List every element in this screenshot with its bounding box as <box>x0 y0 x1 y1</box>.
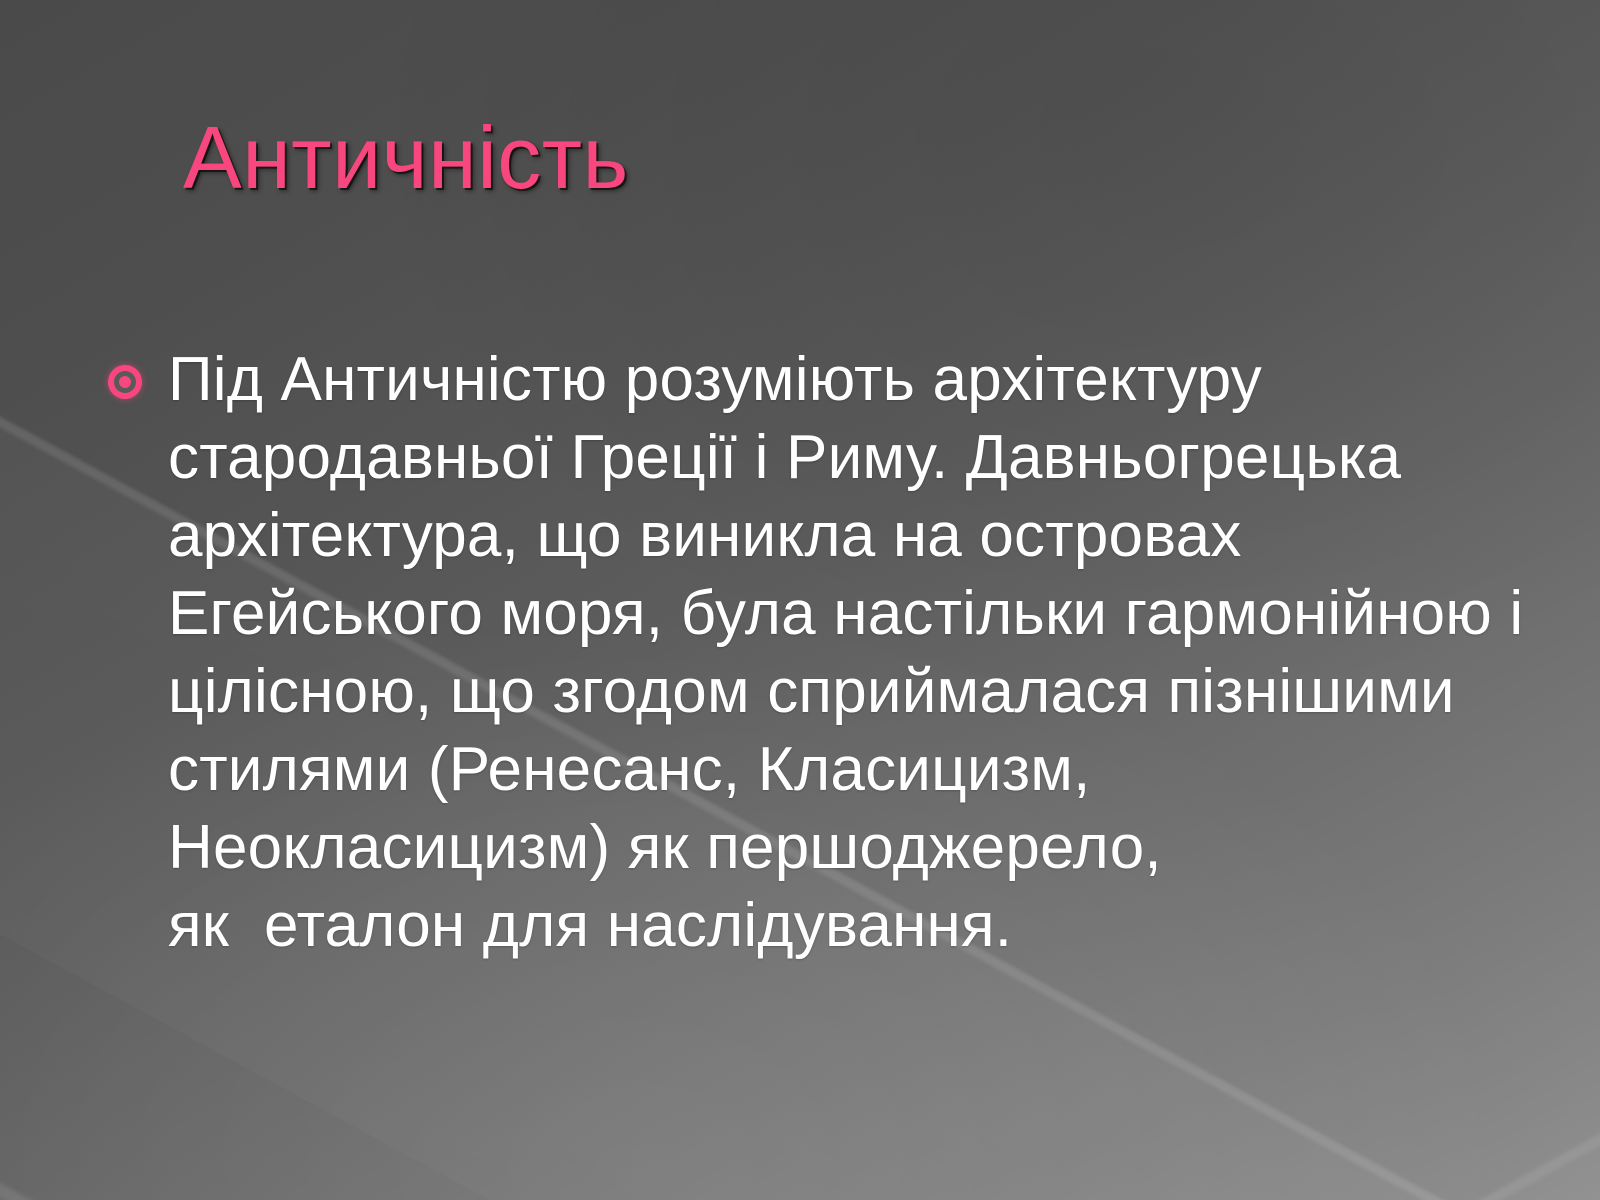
presentation-slide: Античність Під Античністю розуміють архі… <box>0 0 1600 1200</box>
slide-body-content: Під Античністю розуміють архітектуру ста… <box>108 341 1528 965</box>
target-dot-bullet-icon <box>108 365 142 399</box>
bullet-list-item: Під Античністю розуміють архітектуру ста… <box>108 341 1528 965</box>
slide-title: Античність <box>183 112 1463 204</box>
bullet-item-text: Під Античністю розуміють архітектуру ста… <box>168 341 1528 965</box>
